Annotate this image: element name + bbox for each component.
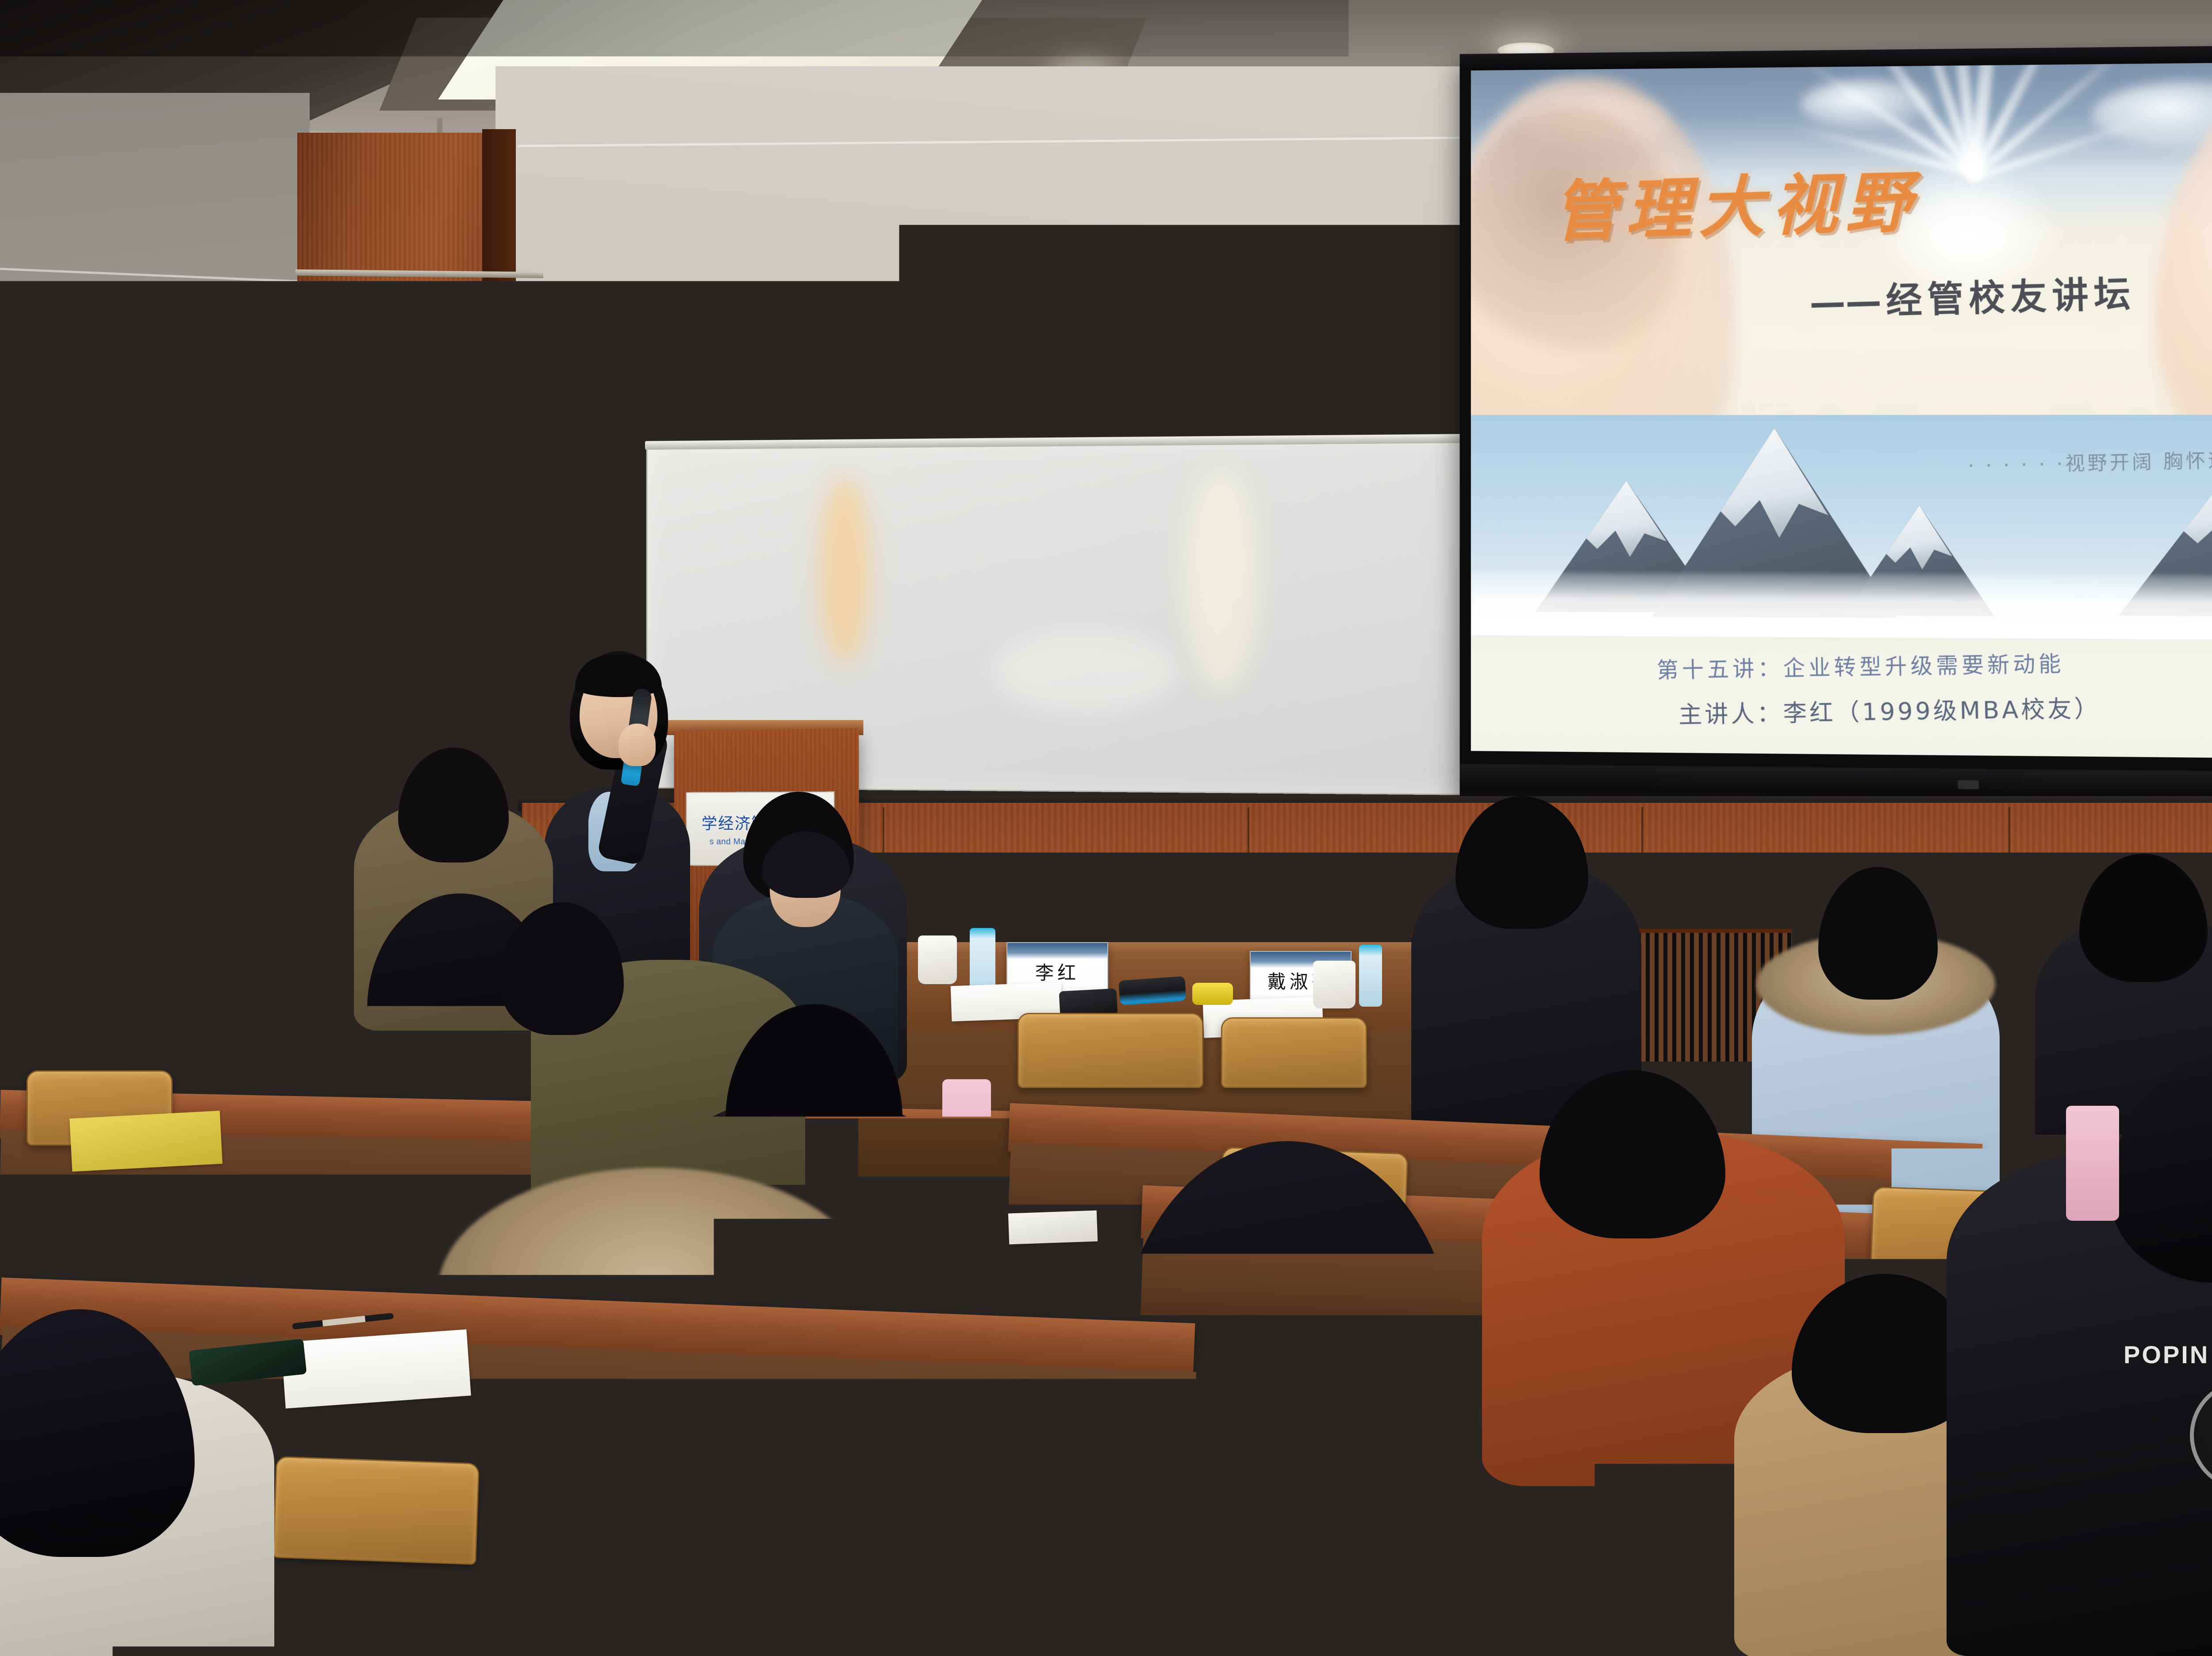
slide-speaker-line: 主讲人：李红（1999级MBA校友） (1678, 689, 2101, 730)
name-placard-1-text: 李红 (1035, 958, 1079, 985)
pink-thermos-3 (2066, 1106, 2119, 1221)
head-table-chair-1 (1018, 1013, 1203, 1088)
tea-cup (918, 935, 957, 984)
pink-thermos-2 (942, 1079, 991, 1181)
slide-title: 管理大视野 (1552, 149, 1920, 254)
projection-screen: 管理大视野 ——经管校友讲坛 · · · · · ·视野开阔 胸怀远大· · ·… (1460, 43, 2212, 815)
wall-groove-4 (518, 416, 650, 418)
phone-on-desk (1008, 1211, 1098, 1245)
yellow-case (1192, 983, 1233, 1005)
tea-cup-2 (1313, 961, 1356, 1008)
whiteboard-glare-3 (993, 629, 1179, 714)
jacket-brand-text: POPIN BINGO (2124, 1340, 2212, 1369)
snowfield (1471, 572, 2212, 643)
presentation-slide: 管理大视野 ——经管校友讲坛 · · · · · ·视野开阔 胸怀远大· · ·… (1471, 60, 2212, 760)
note-paper (281, 1330, 471, 1409)
water-bottle-2 (1359, 945, 1382, 1007)
lecture-hall-photo: 管理大视野 ——经管校友讲坛 · · · · · ·视野开阔 胸怀远大· · ·… (0, 0, 2212, 1656)
cloud (1801, 79, 1932, 129)
whiteboard-glare-1 (818, 476, 870, 664)
whiteboard-glare-2 (1183, 469, 1259, 692)
wall-sconce-light (382, 452, 448, 571)
black-thermos (1118, 976, 1187, 1005)
slide-subtitle: ——经管校友讲坛 (1809, 264, 2136, 326)
speaker-hand (618, 724, 656, 766)
fire-sprinkler (426, 114, 455, 134)
slide-subtitle-text: 经管校友讲坛 (1886, 273, 2136, 322)
wainscot-seam (2008, 807, 2010, 1037)
yellow-folder (69, 1111, 223, 1172)
small-paper (1221, 1060, 1288, 1086)
water-bottle-foreground (779, 1583, 845, 1656)
slide-subtitle-dash: —— (1809, 280, 1882, 324)
slide-lecture-line: 第十五讲：企业转型升级需要新动能 (1656, 646, 2065, 685)
podium-placard-name: 李红 (542, 733, 575, 755)
